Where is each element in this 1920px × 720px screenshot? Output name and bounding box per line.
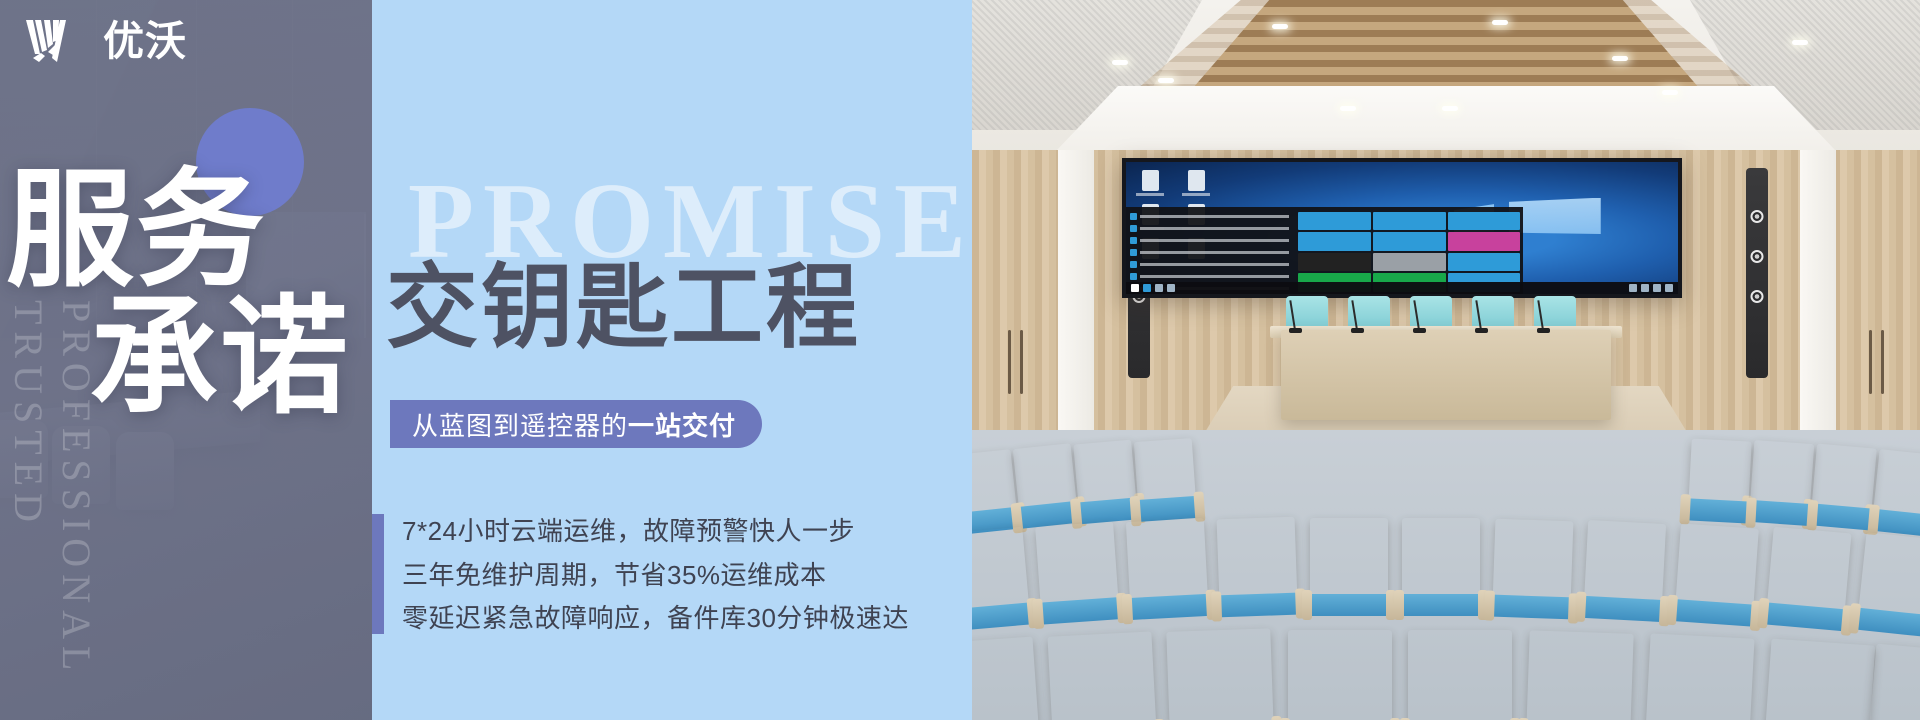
- auditorium-seat: [1526, 630, 1633, 720]
- wall-speaker-right: [1746, 168, 1768, 378]
- uwo-w-mark-icon: [24, 18, 92, 64]
- ceiling-spotlight: [1792, 40, 1808, 45]
- auditorium-seat: [1134, 438, 1196, 508]
- speaker-driver-icon: [1751, 210, 1764, 223]
- start-menu-item[interactable]: [1130, 273, 1289, 281]
- ceiling-spotlight: [1158, 78, 1174, 83]
- led-video-wall[interactable]: [1122, 158, 1682, 298]
- windows-start-menu[interactable]: [1126, 207, 1523, 294]
- auditorium-seat: [1047, 631, 1156, 720]
- start-tile[interactable]: [1298, 212, 1371, 231]
- auditorium-seat: [1126, 518, 1208, 606]
- auditorium-seat: [1765, 638, 1876, 720]
- auditorium-seat: [1858, 532, 1920, 624]
- left-panel-title: 服务 承诺: [6, 168, 372, 421]
- speaker-driver-icon: [1751, 290, 1764, 303]
- start-tile[interactable]: [1298, 232, 1371, 251]
- auditorium-seat: [1873, 449, 1920, 523]
- auditorium-seat: [972, 636, 1039, 720]
- left-panel-title-line1: 服务: [6, 160, 266, 302]
- microphone-base: [1351, 328, 1364, 333]
- auditorium-seat: [1688, 438, 1751, 509]
- door-handle: [1869, 330, 1872, 394]
- ceiling-wood-slats: [1186, 0, 1706, 96]
- start-menu-item[interactable]: [1130, 297, 1289, 298]
- auditorium-seat: [1013, 443, 1078, 515]
- service-promise-banner: PROFESSIONAL TRUSTED 优沃: [0, 0, 1920, 720]
- page-title: 交钥匙工程: [386, 262, 861, 354]
- start-tile[interactable]: [1373, 253, 1446, 272]
- auditorium-seat: [1310, 518, 1388, 602]
- left-panel: PROFESSIONAL TRUSTED 优沃: [0, 0, 372, 720]
- auditorium-seat: [1493, 519, 1574, 606]
- ceiling-spotlight: [1492, 20, 1508, 25]
- desktop-icon[interactable]: [1142, 170, 1159, 191]
- auditorium-photo: [972, 0, 1920, 720]
- start-tile[interactable]: [1373, 232, 1446, 251]
- auditorium-seat: [1402, 518, 1480, 602]
- subtitle-badge: 从蓝图到遥控器的一站交付: [390, 400, 762, 448]
- auditorium-seat: [1766, 527, 1851, 617]
- start-tile[interactable]: [1373, 212, 1446, 231]
- auditorium-seat: [1675, 523, 1759, 612]
- start-menu-item[interactable]: [1130, 261, 1289, 269]
- start-menu-item[interactable]: [1130, 237, 1289, 245]
- taskbar-icon[interactable]: [1143, 284, 1151, 292]
- start-tile[interactable]: [1448, 232, 1521, 251]
- windows-taskbar[interactable]: [1126, 282, 1678, 294]
- door-handle: [1881, 330, 1884, 394]
- desktop-icon-label: [1136, 193, 1164, 196]
- feature-line: 三年免维护周期，节省35%运维成本: [402, 560, 909, 591]
- microphone-base: [1413, 328, 1426, 333]
- start-tile[interactable]: [1448, 253, 1521, 272]
- left-panel-title-line2: 承诺: [90, 295, 372, 422]
- ceiling-spotlight: [1442, 106, 1458, 111]
- auditorium-seat: [1868, 644, 1920, 720]
- auditorium-seat: [1750, 440, 1815, 512]
- conference-desk: [1281, 330, 1611, 420]
- clock[interactable]: [1665, 284, 1673, 292]
- start-menu-app-list[interactable]: [1130, 213, 1289, 293]
- microphone-base: [1475, 328, 1488, 333]
- system-tray-icon[interactable]: [1653, 284, 1661, 292]
- start-tile[interactable]: [1448, 212, 1521, 231]
- system-tray-icon[interactable]: [1641, 284, 1649, 292]
- start-tile[interactable]: [1298, 253, 1371, 272]
- accent-bar: [372, 514, 384, 634]
- auditorium-seat: [1217, 517, 1298, 604]
- ceiling-spotlight: [1340, 106, 1356, 111]
- taskbar-icon[interactable]: [1155, 284, 1163, 292]
- subtitle-badge-emphasis: 一站交付: [628, 406, 736, 443]
- microphone-base: [1289, 328, 1302, 333]
- start-menu-item[interactable]: [1130, 249, 1289, 257]
- middle-panel: PROMISE 交钥匙工程 从蓝图到遥控器的一站交付 7*24小时云端运维，故障…: [372, 0, 972, 720]
- start-button-icon[interactable]: [1131, 284, 1139, 292]
- auditorium-seat: [1288, 630, 1392, 720]
- feature-list: 7*24小时云端运维，故障预警快人一步 三年免维护周期，节省35%运维成本 零延…: [372, 514, 909, 634]
- start-menu-tiles[interactable]: [1298, 212, 1521, 292]
- microphone-base: [1537, 328, 1550, 333]
- ceiling-spotlight: [1272, 24, 1288, 29]
- feature-line: 7*24小时云端运维，故障预警快人一步: [402, 516, 909, 547]
- ceiling-spotlight: [1112, 60, 1128, 65]
- auditorium-seat: [1073, 440, 1137, 511]
- auditorium-seat: [1408, 630, 1512, 720]
- system-tray-icon[interactable]: [1629, 284, 1637, 292]
- start-menu-item[interactable]: [1130, 225, 1289, 233]
- brand-logo[interactable]: 优沃: [24, 18, 187, 64]
- subtitle-badge-prefix: 从蓝图到遥控器的: [412, 406, 628, 443]
- start-menu-item[interactable]: [1130, 213, 1289, 221]
- speaker-driver-icon: [1751, 250, 1764, 263]
- feature-line: 零延迟紧急故障响应，备件库30分钟极速达: [402, 603, 909, 634]
- taskbar-icon[interactable]: [1167, 284, 1175, 292]
- brand-logo-text: 优沃: [103, 21, 187, 62]
- auditorium-seat: [1035, 521, 1119, 610]
- ceiling-spotlight: [1612, 56, 1628, 61]
- auditorium-seat: [1584, 520, 1666, 608]
- auditorium-seat: [972, 527, 1030, 617]
- desktop-icon[interactable]: [1188, 170, 1205, 191]
- door-handle: [1008, 330, 1011, 394]
- desktop-icon-label: [1182, 193, 1210, 196]
- ceiling-spotlight: [1662, 90, 1678, 95]
- door-handle: [1020, 330, 1023, 394]
- auditorium-seat: [1166, 628, 1273, 720]
- auditorium-seat: [1645, 633, 1754, 720]
- auditorium-seat: [1811, 444, 1877, 517]
